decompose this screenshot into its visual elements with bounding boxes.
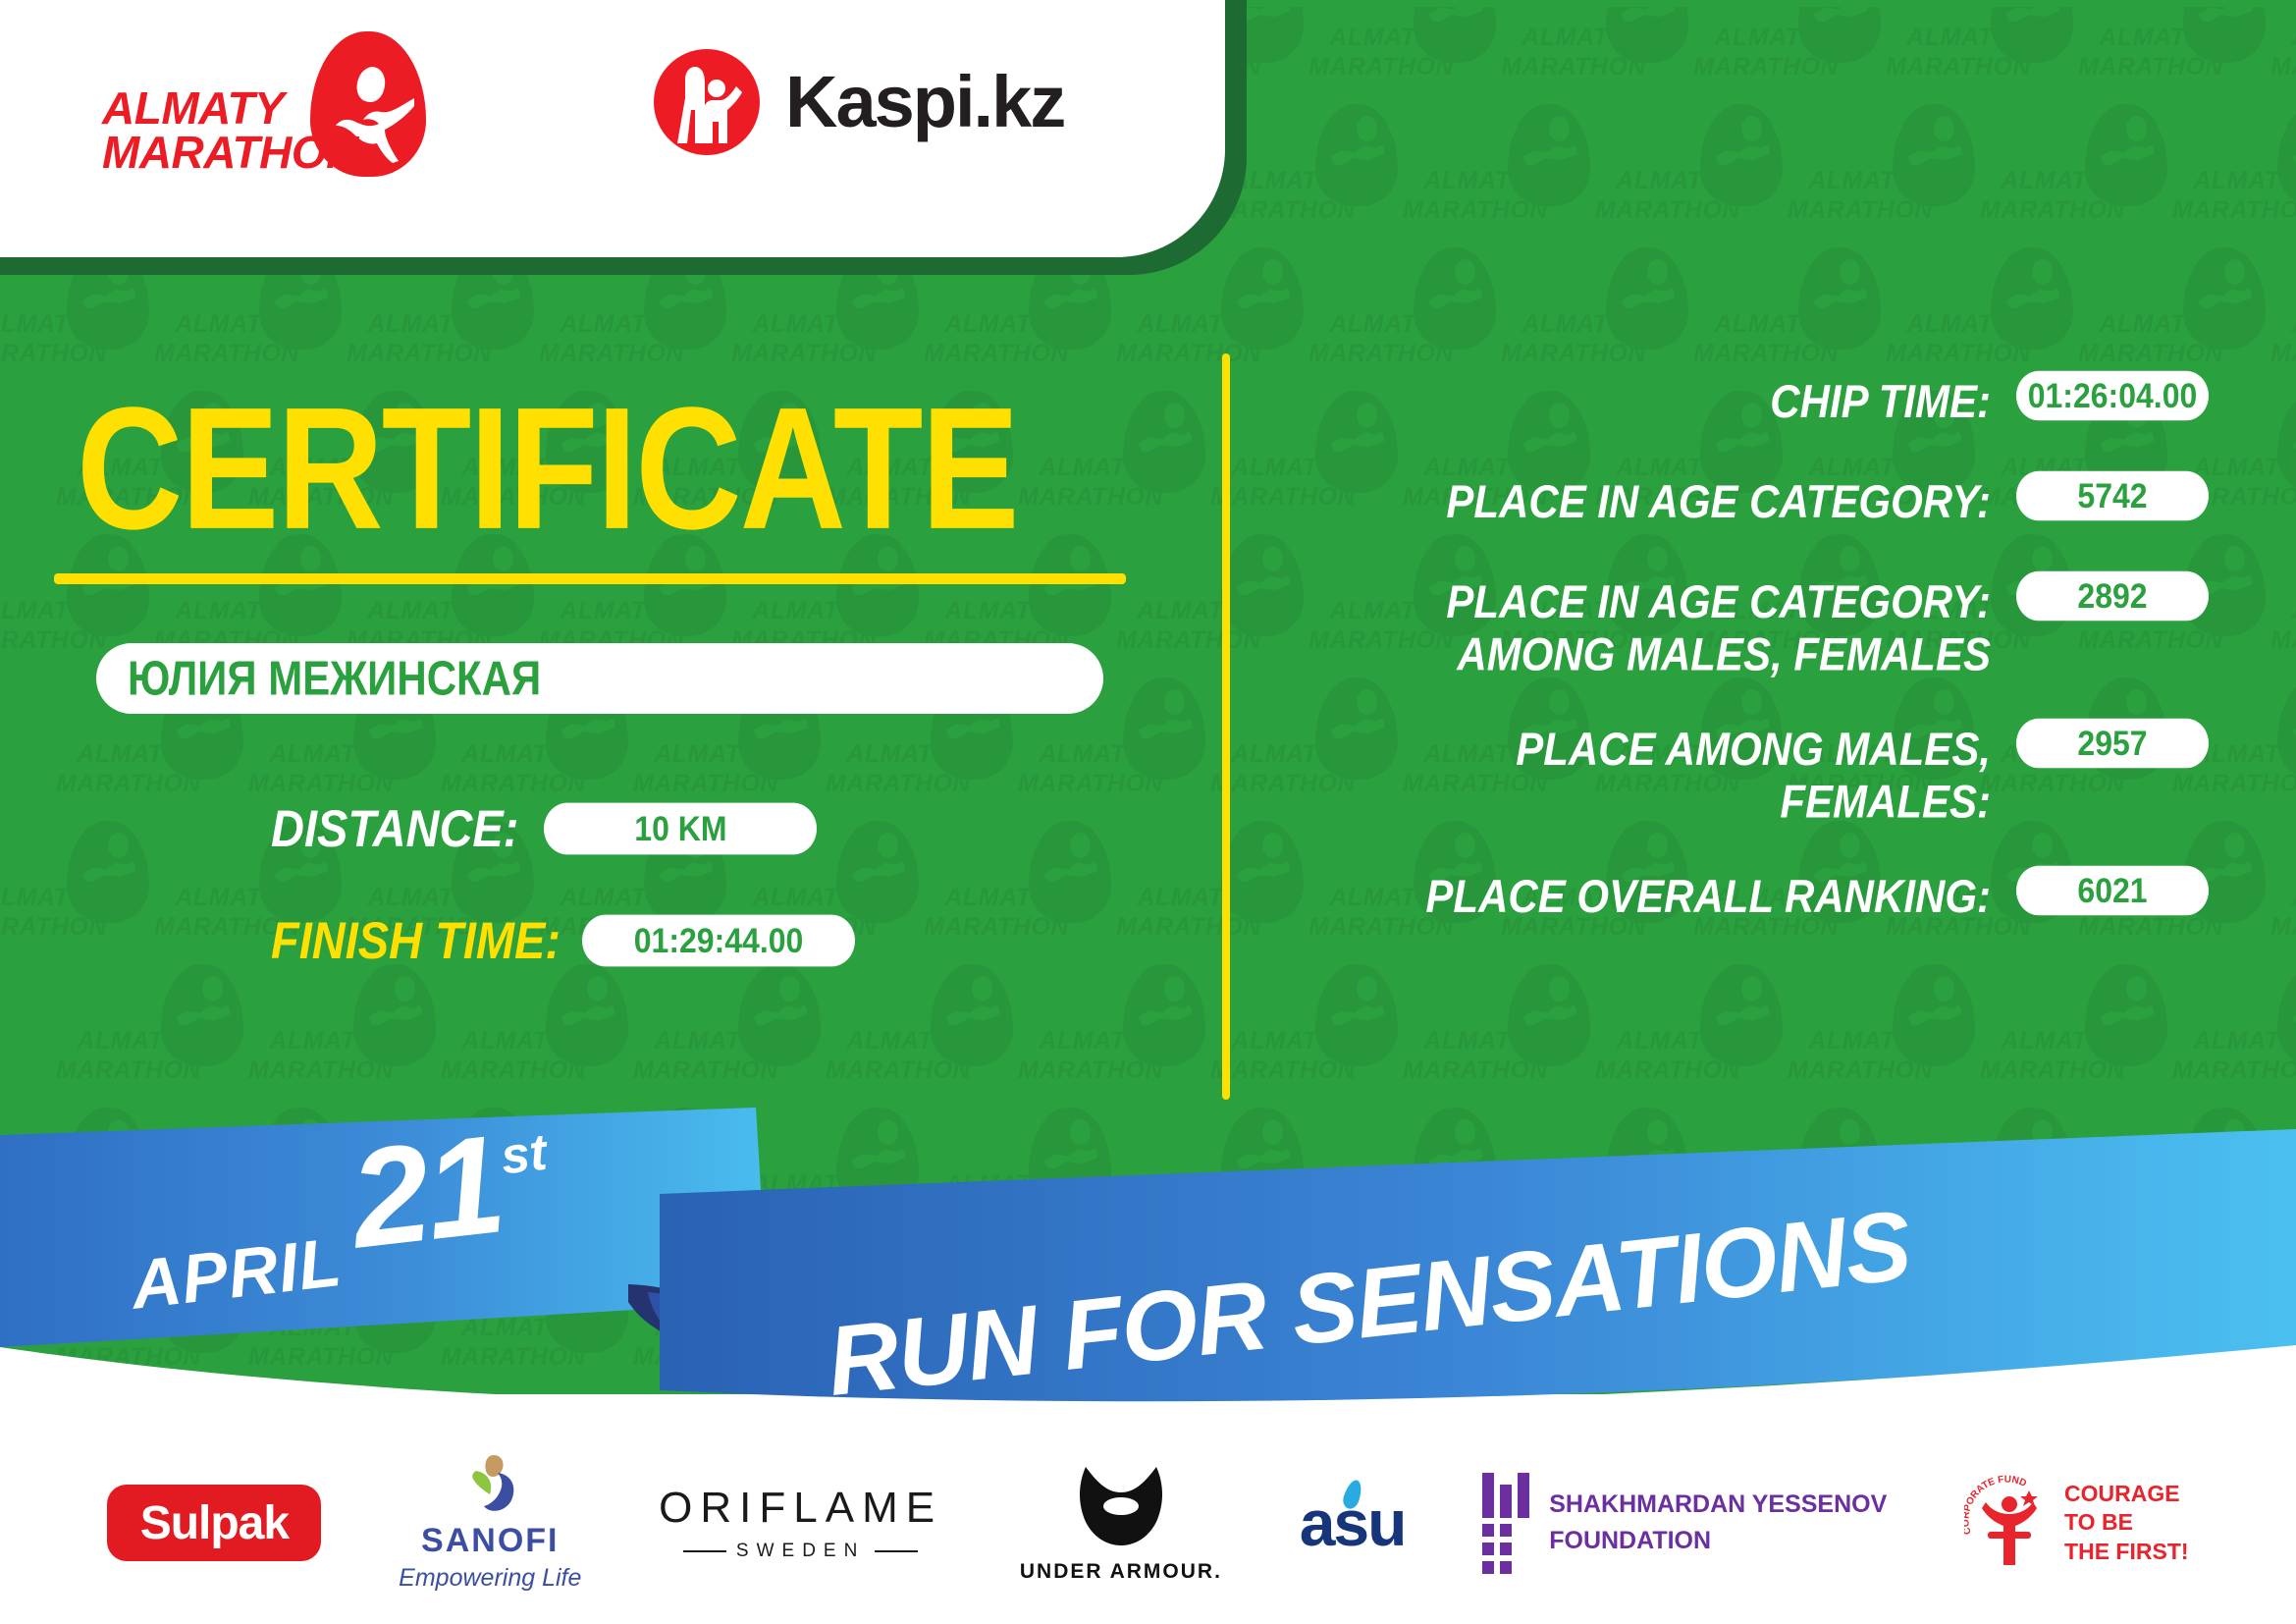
- logo-line-2: MARATHON: [102, 131, 308, 175]
- stat-value: 2892: [2016, 571, 2209, 622]
- distance-label: DISTANCE:: [271, 798, 518, 859]
- watermark-tile: ALMATYMARATHON: [1885, 0, 2077, 108]
- watermark-line-2: MARATHON: [923, 913, 1070, 942]
- watermark-line-1: ALMATY: [0, 884, 108, 912]
- title-underline: [54, 573, 1126, 584]
- watermark-line-1: ALMATY: [730, 884, 878, 912]
- watermark-line-1: ALMATY: [538, 597, 685, 625]
- watermark-tile: ALMATYMARATHON: [2269, 534, 2296, 681]
- watermark-line-1: ALMATY: [346, 884, 493, 912]
- under-armour-mark-icon: [1068, 1463, 1174, 1554]
- under-armour-wordmark: UNDER ARMOUR.: [1020, 1560, 1222, 1584]
- watermark-line-2: MARATHON: [1500, 53, 1647, 81]
- watermark-line-1: ALMATY: [2171, 1027, 2296, 1056]
- watermark-tile: ALMATYMARATHON: [923, 821, 1115, 968]
- watermark-line-2: MARATHON: [1692, 53, 1840, 81]
- watermark-tile: ALMATYMARATHON: [1594, 104, 1787, 251]
- stat-value: 01:26:04.00: [2016, 371, 2209, 421]
- watermark-tile: ALMATYMARATHON: [55, 964, 247, 1111]
- yessenov-wordmark: SHAKHMARDAN YESSENOV FOUNDATION: [1549, 1487, 1887, 1560]
- watermark-tile: ALMATYMARATHON: [2171, 104, 2296, 251]
- watermark-tile: ALMATYMARATHON: [825, 964, 1017, 1111]
- watermark-line-1: ALMATY: [1979, 167, 2126, 195]
- athlete-name-field: ЮЛИЯ МЕЖИНСКАЯ: [96, 643, 1103, 714]
- watermark-line-2: MARATHON: [1115, 626, 1262, 655]
- sponsor-sanofi: SANOFI Empowering Life: [399, 1453, 581, 1593]
- watermark-line-1: ALMATY: [1017, 1027, 1164, 1056]
- distance-value: 10 KM: [544, 802, 817, 854]
- watermark-line-1: ALMATY: [923, 310, 1070, 339]
- sponsor-sulpak: Sulpak: [107, 1485, 321, 1561]
- watermark-line-2: MARATHON: [1402, 1056, 1549, 1085]
- stat-place-overall-ranking: PLACE OVERALL RANKING: 6021: [1276, 868, 2209, 931]
- distance-row: DISTANCE: 10 KM: [271, 801, 817, 855]
- stat-label: CHIP TIME:: [1276, 373, 2016, 428]
- watermark-line-1: ALMATY: [825, 1027, 972, 1056]
- asu-wordmark: asu: [1300, 1486, 1406, 1560]
- watermark-line-1: ALMATY: [1692, 24, 1840, 52]
- oriflame-sub: SWEDEN: [683, 1541, 918, 1562]
- stats-panel: CHIP TIME: 01:26:04.00 PLACE IN AGE CATE…: [1276, 373, 2209, 968]
- watermark-line-2: MARATHON: [1787, 1056, 1934, 1085]
- watermark-line-1: ALMATY: [1787, 1027, 1934, 1056]
- stat-place-age-category-gender: PLACE IN AGE CATEGORY: AMONG MALES, FEMA…: [1276, 573, 2209, 683]
- watermark-line-1: ALMATY: [1594, 1027, 1741, 1056]
- watermark-line-1: ALMATY: [1885, 310, 2032, 339]
- watermark-line-2: MARATHON: [2269, 626, 2296, 655]
- watermark-line-1: ALMATY: [538, 884, 685, 912]
- almaty-marathon-wordmark: ALMATY MARATHON: [102, 86, 308, 175]
- watermark-line-2: MARATHON: [1308, 340, 1455, 368]
- ribbon-day-suffix: st: [498, 1123, 550, 1187]
- watermark-line-2: MARATHON: [247, 1056, 395, 1085]
- rule-left: [683, 1550, 726, 1552]
- watermark-line-2: MARATHON: [538, 340, 685, 368]
- page-title: CERTIFICATE: [77, 381, 1018, 555]
- watermark-tile: ALMATYMARATHON: [1594, 964, 1787, 1111]
- watermark-line-2: MARATHON: [1017, 1056, 1164, 1085]
- header-panel: ALMATY MARATHON Kaspi.kz: [0, 0, 1225, 257]
- watermark-line-1: ALMATY: [730, 597, 878, 625]
- blue-ribbon: APRIL 21 st RUN FOR SENSATIONS: [0, 1100, 2296, 1434]
- stat-label-line-1: PLACE AMONG MALES,: [1276, 723, 1991, 776]
- courage-fund-text: COURAGE TO BE THE FIRST!: [2064, 1480, 2189, 1566]
- watermark-line-2: MARATHON: [1692, 340, 1840, 368]
- stat-value: 5742: [2016, 471, 2209, 521]
- watermark-tile: ALMATYMARATHON: [1500, 0, 1692, 108]
- courage-fund-line-2: TO BE: [2064, 1508, 2189, 1537]
- watermark-tile: ALMATYMARATHON: [1209, 964, 1402, 1111]
- sanofi-mark-icon: [454, 1453, 525, 1518]
- watermark-tile: ALMATYMARATHON: [2269, 0, 2296, 108]
- watermark-tile: ALMATYMARATHON: [1787, 964, 1979, 1111]
- watermark-line-1: ALMATY: [2269, 24, 2296, 52]
- watermark-line-1: ALMATY: [346, 597, 493, 625]
- watermark-line-1: ALMATY: [1979, 1027, 2126, 1056]
- sponsor-courage-fund: CORPORATE FUND COURAGE TO BE THE FIRST!: [1964, 1475, 2189, 1571]
- vertical-divider: [1222, 353, 1230, 1100]
- watermark-line-1: ALMATY: [1500, 24, 1647, 52]
- kaspi-wordmark: Kaspi.kz: [785, 60, 1064, 143]
- watermark-tile: ALMATYMARATHON: [1402, 104, 1594, 251]
- watermark-line-1: ALMATY: [2269, 597, 2296, 625]
- watermark-line-2: MARATHON: [1209, 1056, 1357, 1085]
- watermark-tile: ALMATYMARATHON: [1017, 391, 1209, 538]
- stat-label-line-2: FEMALES:: [1276, 776, 1991, 829]
- watermark-line-1: ALMATY: [1402, 1027, 1549, 1056]
- watermark-line-2: MARATHON: [440, 770, 587, 798]
- finish-time-row: FINISH TIME: 01:29:44.00: [271, 913, 855, 967]
- sponsor-under-armour: UNDER ARMOUR.: [1020, 1463, 1222, 1584]
- watermark-line-1: ALMATY: [440, 1027, 587, 1056]
- watermark-line-2: MARATHON: [730, 340, 878, 368]
- watermark-line-2: MARATHON: [1979, 196, 2126, 225]
- logo-line-1: ALMATY: [102, 86, 308, 131]
- watermark-line-1: ALMATY: [1787, 167, 1934, 195]
- watermark-line-2: MARATHON: [825, 770, 972, 798]
- stat-label: PLACE IN AGE CATEGORY:: [1276, 473, 2016, 528]
- watermark-line-1: ALMATY: [923, 597, 1070, 625]
- watermark-line-2: MARATHON: [247, 770, 395, 798]
- watermark-line-1: ALMATY: [153, 310, 300, 339]
- watermark-line-2: MARATHON: [1115, 913, 1262, 942]
- watermark-tile: ALMATYMARATHON: [1308, 0, 1500, 108]
- watermark-tile: ALMATYMARATHON: [1979, 104, 2171, 251]
- watermark-tile: ALMATYMARATHON: [632, 964, 825, 1111]
- stat-label: PLACE OVERALL RANKING:: [1276, 868, 2016, 923]
- courage-fund-mark-icon: CORPORATE FUND: [1964, 1475, 2055, 1571]
- watermark-line-2: MARATHON: [153, 340, 300, 368]
- sponsor-oriflame: ORIFLAME SWEDEN: [659, 1484, 942, 1562]
- stat-place-age-category: PLACE IN AGE CATEGORY: 5742: [1276, 473, 2209, 536]
- almaty-marathon-logo: ALMATY MARATHON: [102, 31, 426, 179]
- watermark-line-1: ALMATY: [440, 740, 587, 769]
- watermark-tile: ALMATYMARATHON: [2171, 964, 2296, 1111]
- yessenov-mark-icon: [1482, 1473, 1529, 1574]
- watermark-line-1: ALMATY: [1209, 1027, 1357, 1056]
- courage-fund-line-3: THE FIRST!: [2064, 1538, 2189, 1566]
- watermark-line-1: ALMATY: [1115, 884, 1262, 912]
- watermark-line-2: MARATHON: [2171, 196, 2296, 225]
- watermark-line-1: ALMATY: [538, 310, 685, 339]
- watermark-line-2: MARATHON: [55, 770, 202, 798]
- rule-right: [875, 1550, 918, 1552]
- watermark-line-1: ALMATY: [2171, 167, 2296, 195]
- courage-fund-line-1: COURAGE: [2064, 1480, 2189, 1508]
- kaspi-mark-icon: [654, 47, 770, 155]
- watermark-tile: ALMATYMARATHON: [1787, 104, 1979, 251]
- watermark-line-2: MARATHON: [2269, 53, 2296, 81]
- watermark-line-1: ALMATY: [153, 597, 300, 625]
- sanofi-wordmark: SANOFI: [421, 1522, 559, 1560]
- watermark-line-1: ALMATY: [1885, 24, 2032, 52]
- watermark-line-1: ALMATY: [1017, 454, 1164, 482]
- watermark-tile: ALMATYMARATHON: [1692, 0, 1885, 108]
- watermark-line-2: MARATHON: [2077, 340, 2224, 368]
- watermark-line-1: ALMATY: [55, 1027, 202, 1056]
- watermark-line-2: MARATHON: [1594, 196, 1741, 225]
- sanofi-tagline: Empowering Life: [399, 1564, 581, 1593]
- sponsor-asu: asu: [1300, 1486, 1406, 1560]
- watermark-line-2: MARATHON: [2077, 53, 2224, 81]
- watermark-line-1: ALMATY: [55, 740, 202, 769]
- watermark-line-2: MARATHON: [2171, 1056, 2296, 1085]
- watermark-line-2: MARATHON: [1402, 196, 1549, 225]
- watermark-line-2: MARATHON: [825, 1056, 972, 1085]
- kaspi-logo: Kaspi.kz: [654, 47, 1064, 155]
- stat-label: PLACE IN AGE CATEGORY: AMONG MALES, FEMA…: [1276, 573, 2016, 680]
- stat-chip-time: CHIP TIME: 01:26:04.00: [1276, 373, 2209, 436]
- watermark-line-2: MARATHON: [632, 1056, 779, 1085]
- watermark-line-1: ALMATY: [1308, 310, 1455, 339]
- watermark-line-1: ALMATY: [2077, 310, 2224, 339]
- sulpak-logo: Sulpak: [107, 1485, 321, 1561]
- sponsor-bar: Sulpak SANOFI Empowering Life ORIFLAME S…: [0, 1422, 2296, 1624]
- watermark-line-2: MARATHON: [1885, 340, 2032, 368]
- watermark-line-1: ALMATY: [0, 310, 108, 339]
- watermark-line-2: MARATHON: [1885, 53, 2032, 81]
- watermark-tile: ALMATYMARATHON: [440, 964, 632, 1111]
- watermark-line-2: MARATHON: [346, 340, 493, 368]
- watermark-line-2: MARATHON: [1787, 196, 1934, 225]
- watermark-line-1: ALMATY: [632, 740, 779, 769]
- watermark-line-1: ALMATY: [1594, 167, 1741, 195]
- watermark-line-1: ALMATY: [0, 597, 108, 625]
- watermark-line-1: ALMATY: [825, 740, 972, 769]
- oriflame-wordmark: ORIFLAME: [659, 1484, 942, 1533]
- watermark-line-2: MARATHON: [440, 1056, 587, 1085]
- stat-place-among-gender: PLACE AMONG MALES, FEMALES: 2957: [1276, 721, 2209, 831]
- watermark-line-1: ALMATY: [730, 310, 878, 339]
- watermark-tile: ALMATYMARATHON: [1402, 964, 1594, 1111]
- watermark-line-2: MARATHON: [1594, 1056, 1741, 1085]
- watermark-line-2: MARATHON: [1115, 340, 1262, 368]
- watermark-tile: ALMATYMARATHON: [2269, 247, 2296, 395]
- watermark-line-1: ALMATY: [2077, 24, 2224, 52]
- stat-value: 6021: [2016, 866, 2209, 916]
- watermark-line-2: MARATHON: [632, 770, 779, 798]
- finish-time-value: 01:29:44.00: [582, 914, 855, 966]
- watermark-tile: ALMATYMARATHON: [2077, 0, 2269, 108]
- stat-label-line-1: PLACE IN AGE CATEGORY:: [1276, 575, 1991, 628]
- yessenov-line-2: FOUNDATION: [1549, 1523, 1887, 1560]
- watermark-line-2: MARATHON: [923, 340, 1070, 368]
- finish-time-label: FINISH TIME:: [271, 910, 561, 971]
- watermark-line-2: MARATHON: [0, 626, 108, 655]
- watermark-line-1: ALMATY: [1017, 740, 1164, 769]
- yessenov-line-1: SHAKHMARDAN YESSENOV: [1549, 1487, 1887, 1524]
- sponsor-yessenov-foundation: SHAKHMARDAN YESSENOV FOUNDATION: [1482, 1473, 1887, 1574]
- stat-label: PLACE AMONG MALES, FEMALES:: [1276, 721, 2016, 828]
- watermark-line-2: MARATHON: [1500, 340, 1647, 368]
- watermark-line-2: MARATHON: [2269, 340, 2296, 368]
- watermark-line-1: ALMATY: [153, 884, 300, 912]
- athlete-name-value: ЮЛИЯ МЕЖИНСКАЯ: [128, 651, 541, 707]
- watermark-tile: ALMATYMARATHON: [0, 821, 153, 968]
- watermark-line-1: ALMATY: [632, 1027, 779, 1056]
- watermark-line-2: MARATHON: [1017, 770, 1164, 798]
- certificate-page: ALMATYMARATHONALMATYMARATHONALMATYMARATH…: [0, 0, 2296, 1624]
- watermark-tile: ALMATYMARATHON: [2269, 821, 2296, 968]
- watermark-line-1: ALMATY: [247, 1027, 395, 1056]
- watermark-line-2: MARATHON: [1979, 1056, 2126, 1085]
- watermark-line-1: ALMATY: [1692, 310, 1840, 339]
- watermark-line-1: ALMATY: [346, 310, 493, 339]
- oriflame-sub-text: SWEDEN: [736, 1541, 865, 1562]
- watermark-line-1: ALMATY: [1402, 167, 1549, 195]
- watermark-tile: ALMATYMARATHON: [1979, 964, 2171, 1111]
- watermark-tile: ALMATYMARATHON: [1017, 964, 1209, 1111]
- stat-label-line-2: AMONG MALES, FEMALES: [1276, 628, 1991, 681]
- watermark-line-1: ALMATY: [923, 884, 1070, 912]
- watermark-line-2: MARATHON: [1017, 483, 1164, 512]
- watermark-line-2: MARATHON: [1308, 53, 1455, 81]
- watermark-line-1: ALMATY: [247, 740, 395, 769]
- watermark-line-1: ALMATY: [1115, 597, 1262, 625]
- watermark-line-2: MARATHON: [0, 340, 108, 368]
- watermark-tile: ALMATYMARATHON: [247, 964, 440, 1111]
- watermark-line-2: MARATHON: [55, 1056, 202, 1085]
- watermark-line-2: MARATHON: [0, 913, 108, 942]
- watermark-line-1: ALMATY: [1308, 24, 1455, 52]
- watermark-line-1: ALMATY: [2269, 884, 2296, 912]
- watermark-line-1: ALMATY: [1115, 310, 1262, 339]
- watermark-line-2: MARATHON: [2269, 913, 2296, 942]
- stat-value: 2957: [2016, 719, 2209, 769]
- watermark-line-1: ALMATY: [1500, 310, 1647, 339]
- watermark-line-1: ALMATY: [2269, 310, 2296, 339]
- ribbon-day: 21: [344, 1104, 510, 1280]
